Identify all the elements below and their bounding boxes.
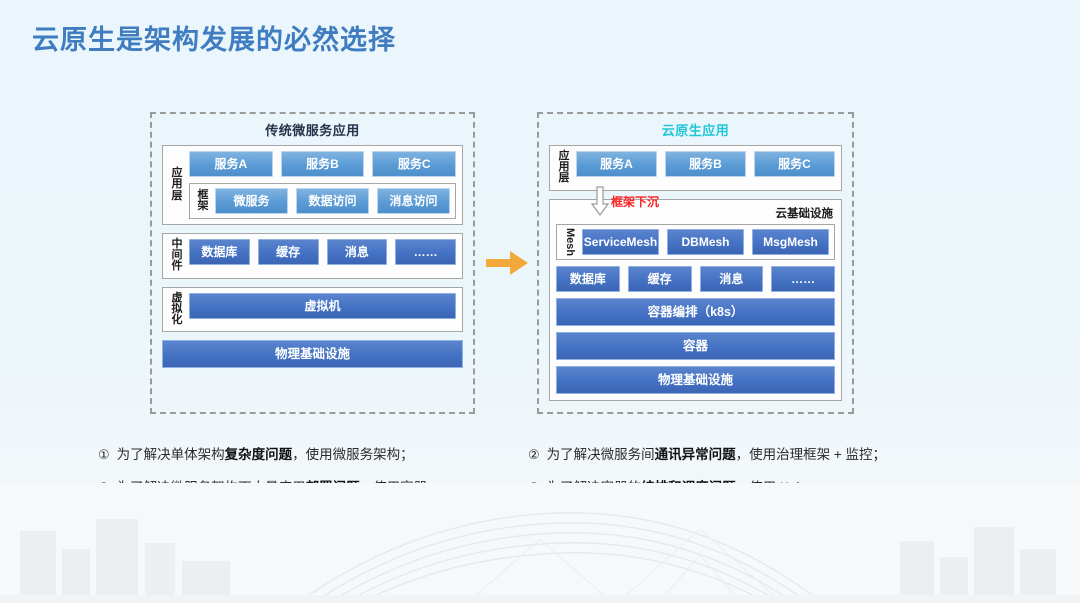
left-services-row: 服务A 服务B 服务C — [189, 151, 456, 177]
framework-data-access-box[interactable]: 数据访问 — [296, 188, 369, 214]
cloud-panel-title: 云原生应用 — [539, 120, 852, 139]
container-bar[interactable]: 容器 — [556, 332, 835, 360]
cloud-service-c-box[interactable]: 服务C — [754, 151, 835, 177]
bullet-text-2-bold: 通讯异常问题 — [655, 447, 736, 462]
bullet-text-6-tail: ，将其运行在 k8s上。 — [777, 513, 910, 528]
left-application-layer-group: 应 用 层 服务A 服务B 服务C 框 架 微服务 数据访问 — [162, 145, 463, 225]
middleware-more-box[interactable]: …… — [395, 239, 456, 265]
bullet-text-6: 为了让ServiceMesh 有更好的底层支撑，将其运行在 k8s上。 — [547, 514, 910, 529]
service-mesh-box[interactable]: ServiceMesh — [582, 229, 659, 255]
virtualization-label: 虚 拟 化 — [169, 293, 185, 327]
framework-sink-label: 框架下沉 — [611, 193, 659, 210]
framework-microservice-box[interactable]: 微服务 — [215, 188, 288, 214]
cloud-infrastructure-group: 云基础设施 Mesh ServiceMesh DBMesh MsgMesh 数据… — [549, 199, 842, 401]
service-a-box[interactable]: 服务A — [189, 151, 273, 177]
cloud-cache-box[interactable]: 缓存 — [628, 266, 692, 292]
middleware-database-box[interactable]: 数据库 — [189, 239, 250, 265]
bullet-text-1-tail: ，使用微服务架构； — [292, 447, 414, 462]
mesh-label: Mesh — [562, 229, 578, 255]
label-char-2: 用 — [172, 179, 183, 190]
bullet-item-2: ② 为了解决微服务间通讯异常问题，使用治理框架 + 监控； — [528, 448, 958, 463]
bullet-text-3-bold: 部署问题 — [306, 480, 360, 495]
mesh-items-row: ServiceMesh DBMesh MsgMesh — [582, 229, 829, 255]
framework-items-row: 微服务 数据访问 消息访问 — [215, 188, 450, 214]
right-application-layer-group: 应 用 层 服务A 服务B 服务C — [549, 145, 842, 191]
bullet-item-5: ⑤ 为了解决微服务框架的侵入性问题，使用 ServiceMesh； — [98, 514, 528, 529]
bullet-text-6-bold: 更好的底层支撑 — [682, 513, 777, 528]
right-services-row: 服务A 服务B 服务C — [576, 151, 835, 185]
page-title: 云原生是架构发展的必然选择 — [32, 18, 396, 57]
cloud-infrastructure-stack: 数据库 缓存 消息 …… 容器编排（k8s） 容器 物理基础设施 — [556, 266, 835, 394]
down-arrow-icon — [591, 186, 609, 216]
framework-group: 框 架 微服务 数据访问 消息访问 — [189, 183, 456, 219]
diagram-area: 传统微服务应用 应 用 层 服务A 服务B 服务C 框 架 — [0, 100, 1080, 430]
middleware-label-char-3: 件 — [172, 261, 183, 272]
bullet-text-3-tail: ，使用容器； — [360, 480, 441, 495]
middleware-cache-box[interactable]: 缓存 — [258, 239, 319, 265]
bullet-text-6-lead: 为了让ServiceMesh 有 — [547, 513, 683, 528]
left-middleware-items-row: 数据库 缓存 消息 …… — [189, 239, 456, 273]
bullet-text-5: 为了解决微服务框架的侵入性问题，使用 ServiceMesh； — [117, 514, 455, 529]
bullet-column-right: ② 为了解决微服务间通讯异常问题，使用治理框架 + 监控； ④ 为了解决容器的编… — [528, 448, 958, 547]
left-middleware-group: 中 间 件 数据库 缓存 消息 …… — [162, 233, 463, 279]
bullet-number-4: ④ — [528, 481, 540, 495]
framework-sink-annotation: 框架下沉 — [591, 186, 659, 216]
bullet-text-4-tail: ，使用 Kubernetes； — [736, 480, 863, 495]
middleware-label: 中 间 件 — [169, 239, 185, 273]
cloud-more-box[interactable]: …… — [771, 266, 835, 292]
bullet-item-1: ① 为了解决单体架构复杂度问题，使用微服务架构； — [98, 448, 528, 463]
bullet-text-2-lead: 为了解决微服务间 — [547, 447, 655, 462]
bullet-item-4: ④ 为了解决容器的编排和调度问题，使用 Kubernetes； — [528, 481, 958, 496]
bullet-text-5-lead: 为了解决微服务框架的 — [117, 513, 252, 528]
virtual-machine-box[interactable]: 虚拟机 — [189, 293, 456, 319]
bullet-text-5-bold: 侵入性问题 — [252, 513, 320, 528]
service-c-box[interactable]: 服务C — [372, 151, 456, 177]
right-label-char-3: 层 — [559, 173, 570, 184]
cloud-middleware-row: 数据库 缓存 消息 …… — [556, 266, 835, 292]
bullet-text-2-tail: ，使用治理框架 + 监控； — [736, 447, 886, 462]
cloud-message-box[interactable]: 消息 — [700, 266, 764, 292]
bullet-number-5: ⑤ — [98, 514, 110, 528]
bullet-text-1-lead: 为了解决单体架构 — [117, 447, 225, 462]
cloud-database-box[interactable]: 数据库 — [556, 266, 620, 292]
traditional-architecture-panel: 传统微服务应用 应 用 层 服务A 服务B 服务C 框 架 — [150, 112, 475, 414]
bullet-number-6: ⑥ — [528, 514, 540, 528]
bullet-text-1-bold: 复杂度问题 — [225, 447, 293, 462]
bullet-item-6: ⑥ 为了让ServiceMesh 有更好的底层支撑，将其运行在 k8s上。 — [528, 514, 958, 529]
traditional-panel-title: 传统微服务应用 — [152, 120, 473, 139]
transition-arrow-icon — [484, 248, 530, 278]
service-b-box[interactable]: 服务B — [281, 151, 365, 177]
bullet-text-4: 为了解决容器的编排和调度问题，使用 Kubernetes； — [547, 481, 863, 496]
bullet-column-left: ① 为了解决单体架构复杂度问题，使用微服务架构； ③ 为了解决微服务架构下大量应… — [98, 448, 528, 547]
cloud-native-architecture-panel: 云原生应用 应 用 层 服务A 服务B 服务C 框架下沉 云基础设施 — [537, 112, 854, 414]
bullet-text-2: 为了解决微服务间通讯异常问题，使用治理框架 + 监控； — [547, 448, 886, 463]
container-orchestration-bar[interactable]: 容器编排（k8s） — [556, 298, 835, 326]
bullet-number-3: ③ — [98, 481, 110, 495]
right-physical-infrastructure-bar[interactable]: 物理基础设施 — [556, 366, 835, 394]
bullet-item-3: ③ 为了解决微服务架构下大量应用部署问题，使用容器； — [98, 481, 528, 496]
bullet-text-5-tail: ，使用 ServiceMesh； — [319, 513, 455, 528]
right-application-layer-label: 应 用 层 — [556, 151, 572, 185]
framework-label-char-2: 架 — [198, 201, 209, 212]
msg-mesh-box[interactable]: MsgMesh — [752, 229, 829, 255]
label-char-3: 层 — [172, 191, 183, 202]
framework-label: 框 架 — [195, 188, 211, 214]
middleware-message-box[interactable]: 消息 — [327, 239, 388, 265]
left-physical-infrastructure-bar[interactable]: 物理基础设施 — [162, 340, 463, 368]
bullet-text-4-lead: 为了解决容器的 — [547, 480, 642, 495]
mesh-group: Mesh ServiceMesh DBMesh MsgMesh — [556, 224, 835, 260]
left-application-layer-label: 应 用 层 — [169, 151, 185, 219]
bullet-text-1: 为了解决单体架构复杂度问题，使用微服务架构； — [117, 448, 414, 463]
virtualization-items-row: 虚拟机 — [189, 293, 456, 327]
cloud-service-b-box[interactable]: 服务B — [665, 151, 746, 177]
cloud-service-a-box[interactable]: 服务A — [576, 151, 657, 177]
db-mesh-box[interactable]: DBMesh — [667, 229, 744, 255]
bullet-text-3-lead: 为了解决微服务架构下大量应用 — [117, 480, 306, 495]
bullet-number-1: ① — [98, 448, 110, 462]
mesh-label-text: Mesh — [564, 228, 576, 256]
virtualization-label-char-3: 化 — [172, 315, 183, 326]
bullet-text-3: 为了解决微服务架构下大量应用部署问题，使用容器； — [117, 481, 441, 496]
bullet-text-4-bold: 编排和调度问题 — [641, 480, 736, 495]
virtualization-group: 虚 拟 化 虚拟机 — [162, 287, 463, 333]
framework-message-access-box[interactable]: 消息访问 — [377, 188, 450, 214]
bullet-number-2: ② — [528, 448, 540, 462]
